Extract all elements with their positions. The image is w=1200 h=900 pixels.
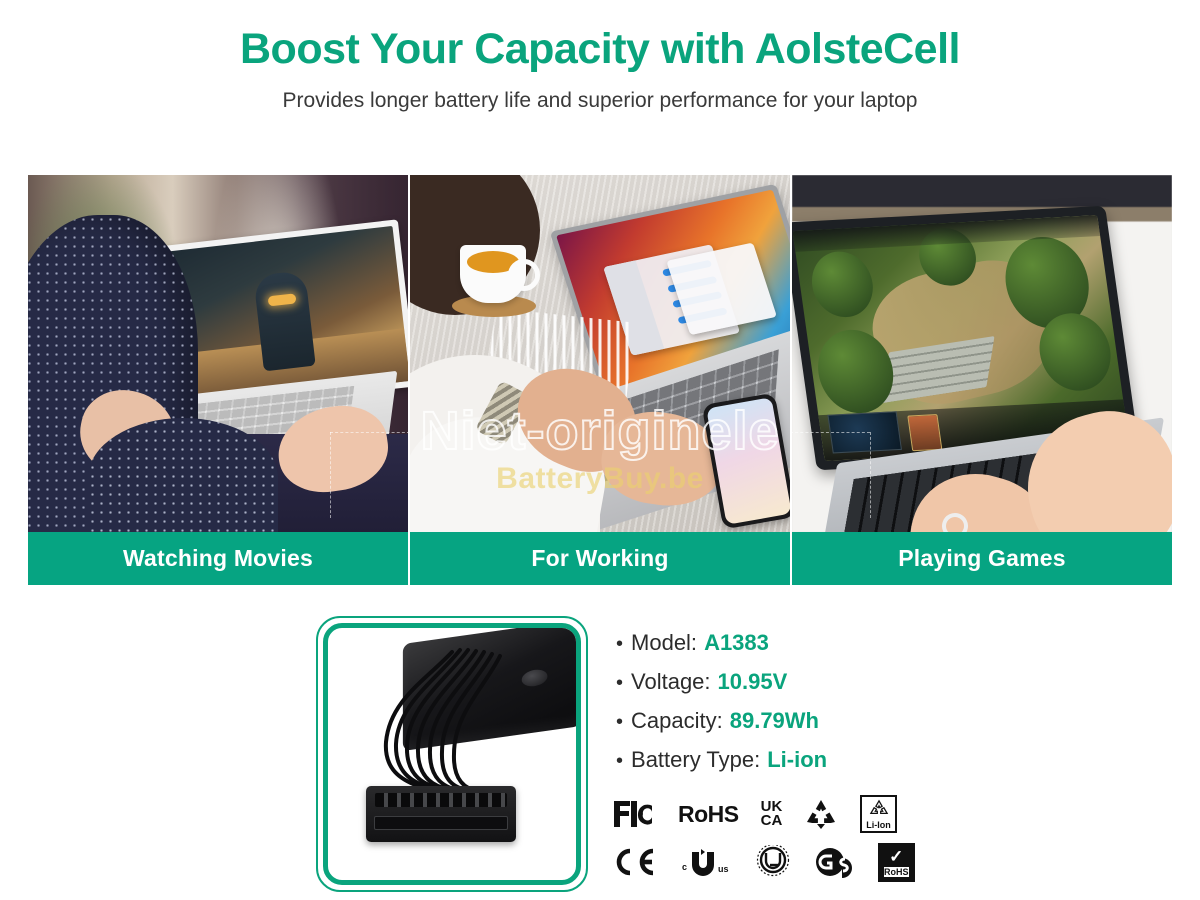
header: Boost Your Capacity with AolsteCell Prov… bbox=[0, 0, 1200, 113]
ce-icon bbox=[612, 842, 660, 882]
fcc-icon bbox=[612, 794, 656, 834]
spec-row-battery-type: • Battery Type: Li-ion bbox=[616, 747, 946, 773]
spec-value: A1383 bbox=[704, 630, 769, 656]
battery-connector-icon bbox=[366, 786, 516, 842]
dashed-guide-icon bbox=[330, 432, 410, 434]
product-image bbox=[323, 623, 581, 885]
svg-text:c: c bbox=[682, 862, 687, 872]
card-caption: For Working bbox=[410, 532, 790, 585]
rohs-icon: RoHS bbox=[678, 794, 739, 834]
battery-wires-icon bbox=[356, 646, 536, 806]
recycle-icon bbox=[804, 794, 838, 834]
li-ion-recycle-icon: Li-Ion bbox=[860, 794, 897, 834]
dashed-guide-icon bbox=[330, 432, 332, 518]
ukca-icon: UKCA bbox=[761, 794, 783, 834]
product-detail-section: • Model: A1383 • Voltage: 10.95V • Capac… bbox=[0, 612, 1200, 900]
spec-label: Model: bbox=[631, 630, 697, 656]
bullet-icon: • bbox=[616, 751, 623, 771]
certification-row-2: c us bbox=[612, 838, 932, 886]
photo-playing-games bbox=[792, 175, 1172, 532]
gs-icon bbox=[812, 842, 856, 882]
usecase-card-playing-games[interactable]: Playing Games bbox=[792, 175, 1172, 585]
usecase-card-row: Watching Movies bbox=[0, 175, 1200, 585]
spec-label: Voltage: bbox=[631, 669, 711, 695]
spec-row-voltage: • Voltage: 10.95V bbox=[616, 669, 946, 695]
spec-value: Li-ion bbox=[767, 747, 827, 773]
ul-icon bbox=[756, 842, 790, 882]
spec-value: 89.79Wh bbox=[730, 708, 819, 734]
page-subtitle: Provides longer battery life and superio… bbox=[0, 89, 1200, 113]
photo-for-working bbox=[410, 175, 790, 532]
dashed-guide-icon bbox=[790, 432, 870, 434]
card-caption: Watching Movies bbox=[28, 532, 408, 585]
spec-list: • Model: A1383 • Voltage: 10.95V • Capac… bbox=[616, 630, 946, 786]
product-image-frame bbox=[316, 616, 588, 892]
dashed-guide-icon bbox=[870, 432, 872, 518]
spec-value: 10.95V bbox=[718, 669, 788, 695]
certification-badges: RoHS UKCA bbox=[612, 790, 932, 886]
spec-row-capacity: • Capacity: 89.79Wh bbox=[616, 708, 946, 734]
promo-banner: Boost Your Capacity with AolsteCell Prov… bbox=[0, 0, 1200, 900]
usecase-card-for-working[interactable]: For Working bbox=[410, 175, 790, 585]
page-title: Boost Your Capacity with AolsteCell bbox=[0, 26, 1200, 73]
certification-row-1: RoHS UKCA bbox=[612, 790, 932, 838]
bullet-icon: • bbox=[616, 634, 623, 654]
bullet-icon: • bbox=[616, 673, 623, 693]
bullet-icon: • bbox=[616, 712, 623, 732]
photo-watching-movies bbox=[28, 175, 408, 532]
spec-row-model: • Model: A1383 bbox=[616, 630, 946, 656]
card-caption: Playing Games bbox=[792, 532, 1172, 585]
spec-label: Battery Type: bbox=[631, 747, 760, 773]
rohs-check-icon: ✓ RoHS bbox=[878, 842, 915, 882]
spec-label: Capacity: bbox=[631, 708, 723, 734]
cul-us-icon: c us bbox=[682, 842, 734, 882]
svg-text:us: us bbox=[718, 864, 729, 874]
usecase-card-watching-movies[interactable]: Watching Movies bbox=[28, 175, 408, 585]
